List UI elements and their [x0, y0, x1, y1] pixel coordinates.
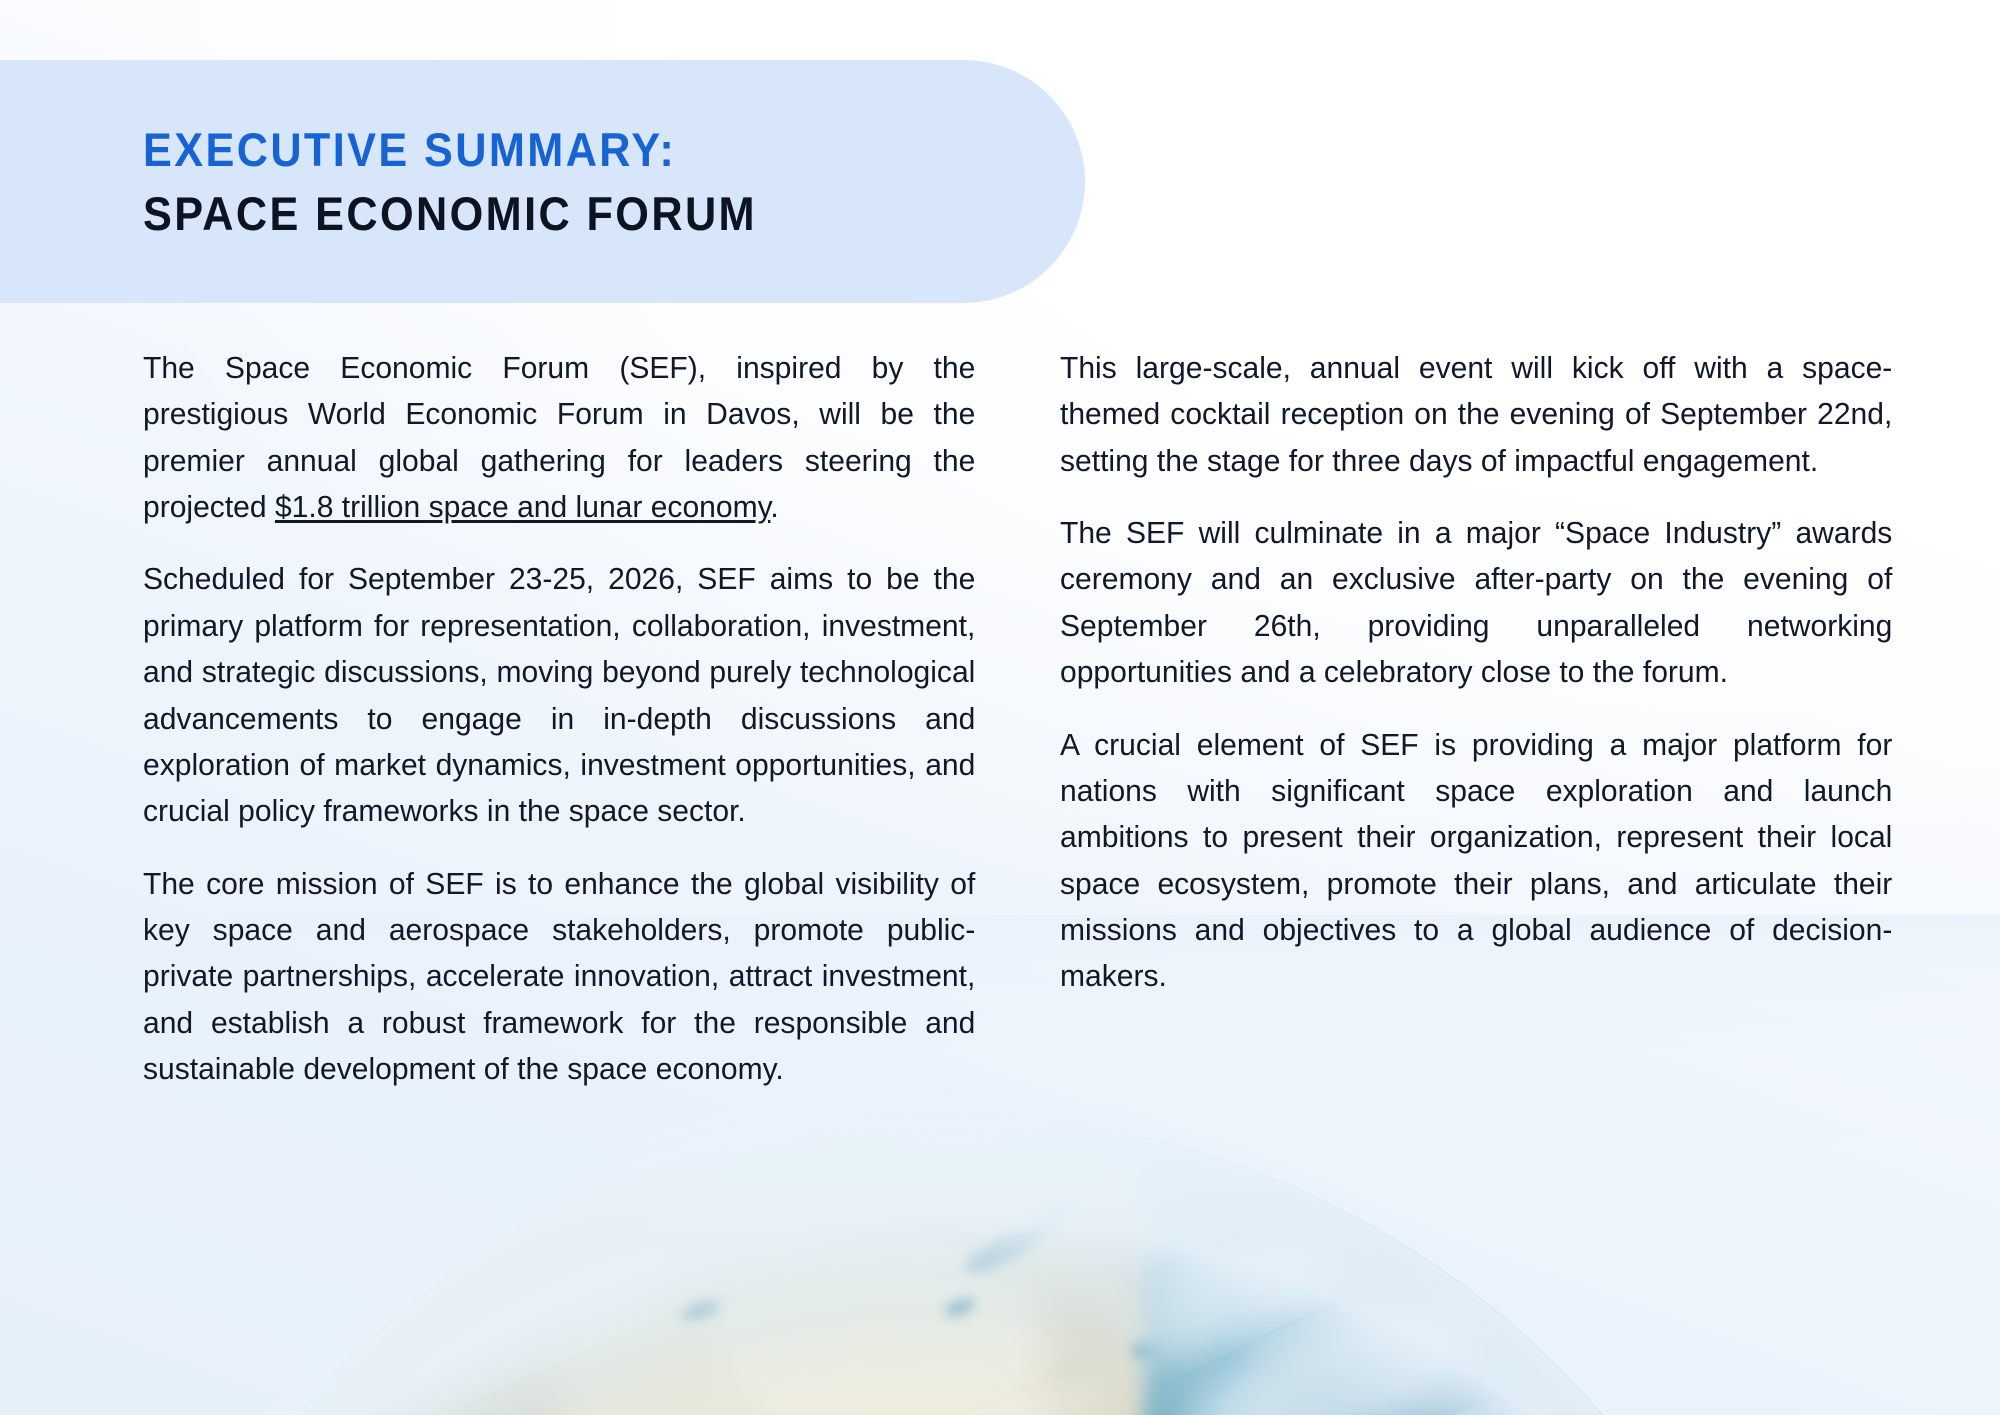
economy-figure-underlined: $1.8 trillion space and lunar economy: [275, 490, 770, 524]
body-columns: The Space Economic Forum (SEF), inspired…: [0, 345, 2000, 1092]
paragraph-right-1: This large-scale, annual event will kick…: [1060, 345, 1892, 484]
page-title: EXECUTIVE SUMMARY: SPACE ECONOMIC FORUM: [143, 118, 810, 246]
slide-page: EXECUTIVE SUMMARY: SPACE ECONOMIC FORUM …: [0, 0, 2000, 1415]
title-line-primary: EXECUTIVE SUMMARY:: [143, 118, 757, 182]
paragraph-left-3: The core mission of SEF is to enhance th…: [143, 861, 975, 1093]
paragraph-left-1: The Space Economic Forum (SEF), inspired…: [143, 345, 975, 530]
title-line-secondary: SPACE ECONOMIC FORUM: [143, 182, 757, 246]
paragraph-left-1-text-after-link: .: [770, 490, 778, 524]
paragraph-right-3: A crucial element of SEF is providing a …: [1060, 722, 1892, 1000]
paragraph-right-2: The SEF will culminate in a major “Space…: [1060, 510, 1892, 695]
right-column: This large-scale, annual event will kick…: [1060, 345, 1905, 1092]
paragraph-left-2: Scheduled for September 23-25, 2026, SEF…: [143, 556, 975, 834]
left-column: The Space Economic Forum (SEF), inspired…: [143, 345, 988, 1092]
